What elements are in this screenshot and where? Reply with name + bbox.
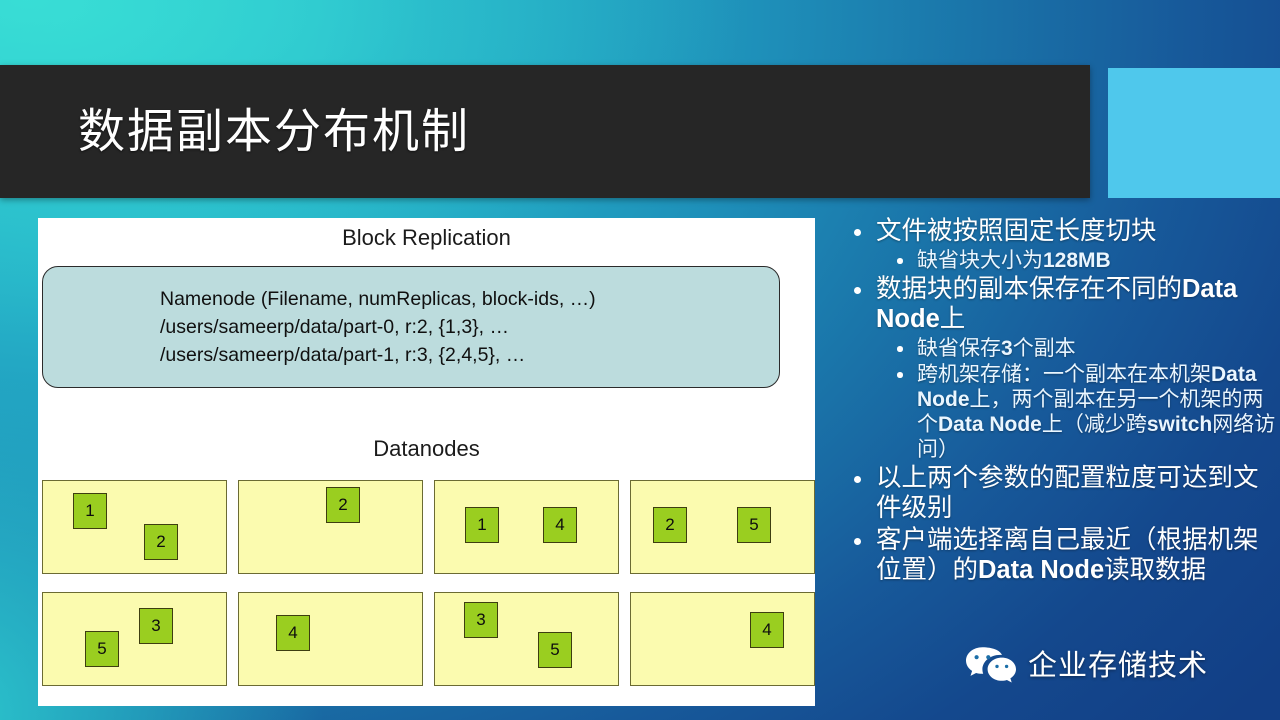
datanode-6: 4 xyxy=(238,592,423,686)
block-replica: 2 xyxy=(326,487,360,523)
title-accent-block xyxy=(1108,68,1280,198)
datanode-3: 14 xyxy=(434,480,619,574)
bullet-item: 客户端选择离自己最近（根据机架位置）的Data Node读取数据 xyxy=(845,525,1277,585)
datanode-4: 25 xyxy=(630,480,815,574)
block-replica: 1 xyxy=(465,507,499,543)
bullet-item: 数据块的副本保存在不同的Data Node上 xyxy=(845,274,1277,334)
block-replica: 2 xyxy=(144,524,178,560)
block-replica: 1 xyxy=(73,493,107,529)
namenode-line-2: /users/sameerp/data/part-0, r:2, {1,3}, … xyxy=(160,313,509,341)
bullet-item: 以上两个参数的配置粒度可达到文件级别 xyxy=(845,463,1277,523)
block-replica: 4 xyxy=(276,615,310,651)
bullet-item: 文件被按照固定长度切块 xyxy=(845,216,1277,246)
wechat-icon xyxy=(963,645,1019,685)
block-replica: 5 xyxy=(85,631,119,667)
watermark: 企业存储技术 xyxy=(963,645,1208,685)
block-replica: 2 xyxy=(653,507,687,543)
block-replica: 5 xyxy=(538,632,572,668)
datanode-1: 12 xyxy=(42,480,227,574)
datanodes-label: Datanodes xyxy=(38,436,815,462)
slide-canvas: 数据副本分布机制 Block Replication Namenode (Fil… xyxy=(0,0,1280,720)
datanode-7: 35 xyxy=(434,592,619,686)
block-replica: 3 xyxy=(139,608,173,644)
datanode-8: 4 xyxy=(630,592,815,686)
block-replica: 4 xyxy=(543,507,577,543)
diagram-heading: Block Replication xyxy=(38,225,815,251)
block-replica: 4 xyxy=(750,612,784,648)
block-replica: 5 xyxy=(737,507,771,543)
datanode-5: 53 xyxy=(42,592,227,686)
block-replication-diagram: Block Replication Namenode (Filename, nu… xyxy=(38,218,815,706)
namenode-line-3: /users/sameerp/data/part-1, r:3, {2,4,5}… xyxy=(160,341,525,369)
namenode-line-1: Namenode (Filename, numReplicas, block-i… xyxy=(160,285,596,313)
datanode-2: 2 xyxy=(238,480,423,574)
title-bar: 数据副本分布机制 xyxy=(0,65,1090,198)
bullet-item: 缺省保存3个副本 xyxy=(845,336,1277,361)
block-replica: 3 xyxy=(464,602,498,638)
bullet-item: 缺省块大小为128MB xyxy=(845,248,1277,273)
bullet-list: 文件被按照固定长度切块缺省块大小为128MB数据块的副本保存在不同的Data N… xyxy=(845,216,1277,587)
watermark-text: 企业存储技术 xyxy=(1028,651,1208,680)
bullet-item: 跨机架存储：一个副本在本机架Data Node上，两个副本在另一个机架的两个Da… xyxy=(845,362,1277,462)
page-title: 数据副本分布机制 xyxy=(78,108,470,155)
namenode-box: Namenode (Filename, numReplicas, block-i… xyxy=(42,266,780,388)
datanode-grid: 1221425534354 xyxy=(42,480,812,700)
